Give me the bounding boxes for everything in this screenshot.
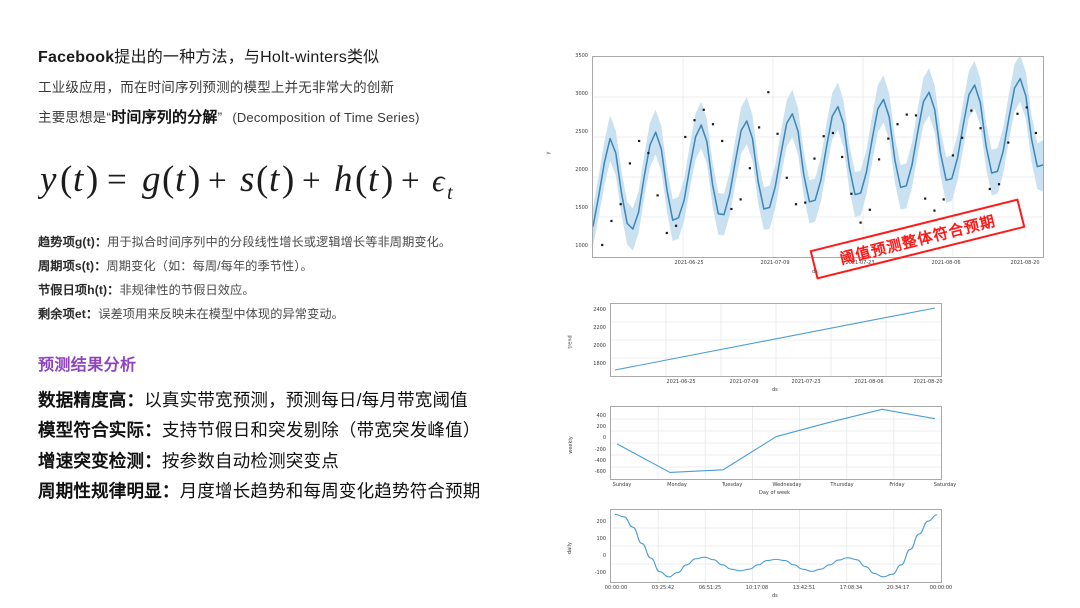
analysis-value: 以真实带宽预测，预测每日/每月带宽阈值 (144, 390, 468, 410)
svg-text:(: ( (355, 159, 367, 200)
forecast-xtick: 2021-06-25 (674, 260, 703, 266)
term-definition-list: 趋势项g(t)：用于拟合时间序列中的分段线性增长或逻辑增长等非周期变化。 周期项… (38, 231, 558, 326)
svg-text:t: t (175, 159, 187, 200)
analysis-row: 周期性规律明显：月度增长趋势和每周变化趋势符合预期 (38, 476, 558, 507)
svg-text:ϵ: ϵ (432, 163, 446, 198)
analysis-value: 支持节假日和突发剔除（带宽突发峰值） (162, 420, 481, 440)
daily-xtick: 13:42:51 (793, 585, 815, 591)
trend-ytick: 2000 (574, 343, 606, 349)
forecast-chart: 3500 3000 2500 2000 1500 1000 y 2021-06-… (548, 46, 1058, 291)
forecast-xtick: 2021-07-09 (760, 260, 789, 266)
term-desc: 误差项用来反映未在模型中体现的异常变动。 (98, 307, 344, 321)
analysis-conclusion-list: 数据精度高：以真实带宽预测，预测每日/每月带宽阈值 模型符合实际：支持节假日和突… (38, 385, 558, 508)
forecast-xtick: 2021-08-20 (1010, 260, 1039, 266)
term-row: 节假日项h(t)：非规律性的节假日效应。 (38, 279, 558, 303)
svg-text:t: t (269, 159, 281, 200)
trend-xtick: 2021-06-25 (666, 379, 695, 385)
trend-plot-svg (611, 304, 941, 376)
right-charts-column: 3500 3000 2500 2000 1500 1000 y 2021-06-… (548, 46, 1058, 606)
analysis-row: 增速突变检测：按参数自动检测突变点 (38, 446, 558, 477)
svg-text:=: = (107, 160, 127, 199)
forecast-ytick: 3500 (562, 53, 588, 59)
analysis-key: 模型符合实际： (38, 420, 162, 440)
forecast-ytick: 3000 (562, 91, 588, 97)
term-key: 剩余项et： (38, 307, 98, 321)
daily-xtick: 00:00:00 (930, 585, 952, 591)
forecast-ytick: 1000 (562, 243, 588, 249)
idea-english-gloss: (Decomposition of Time Series) (232, 110, 419, 125)
formula-svg: y ( t ) = g ( t ) + s ( t ) + h ( t ) + … (38, 150, 458, 208)
forecast-ytick: 1500 (562, 205, 588, 211)
trend-ylabel: trend (568, 335, 574, 348)
analysis-section-heading: 预测结果分析 (38, 351, 558, 375)
trend-ytick: 1800 (574, 361, 606, 367)
idea-close-quote: ” (218, 110, 223, 125)
weekly-ytick: -400 (574, 458, 606, 464)
daily-xtick: 17:08:34 (840, 585, 862, 591)
daily-chart: 200 100 0 -100 daily 00:00:00 03:25:42 0… (560, 503, 980, 603)
analysis-row: 模型符合实际：支持节假日和突发剔除（带宽突发峰值） (38, 415, 558, 446)
weekly-ytick: -200 (574, 447, 606, 453)
term-key: 节假日项h(t)： (38, 283, 119, 297)
weekly-xtick: Sunday (613, 482, 632, 488)
weekly-ytick: 0 (574, 435, 606, 441)
analysis-row: 数据精度高：以真实带宽预测，预测每日/每月带宽阈值 (38, 385, 558, 416)
svg-text:+: + (302, 163, 321, 199)
lead-bold-text: Facebook (38, 49, 114, 66)
analysis-key: 增速突变检测： (38, 451, 162, 471)
lead-rest-text: 提出的一种方法，与Holt-winters类似 (114, 49, 379, 66)
weekly-xlabel: Day of week (759, 490, 790, 496)
term-row: 周期项s(t)：周期变化（如：每周/每年的季节性）。 (38, 255, 558, 279)
trend-ytick: 2200 (574, 325, 606, 331)
daily-ylabel: daily (567, 542, 573, 554)
forecast-ytick: 2000 (562, 167, 588, 173)
daily-xtick: 03:25:42 (652, 585, 674, 591)
trend-chart: 2400 2200 2000 1800 trend 2021-06-25 202… (560, 297, 980, 397)
svg-text:+: + (208, 163, 227, 199)
weekly-ylabel: weekly (568, 436, 574, 454)
daily-xlabel: ds (772, 593, 778, 599)
svg-text:): ) (188, 159, 200, 200)
svg-text:h: h (334, 159, 353, 200)
left-content-column: Facebook提出的一种方法，与Holt-winters类似 工业级应用，而在… (38, 46, 558, 507)
daily-ytick: 200 (574, 519, 606, 525)
svg-text:+: + (401, 163, 420, 199)
weekly-xtick: Saturday (934, 482, 957, 488)
analysis-value: 月度增长趋势和每周变化趋势符合预期 (180, 481, 481, 501)
daily-ytick: 100 (574, 536, 606, 542)
svg-text:t: t (447, 182, 453, 204)
svg-text:g: g (142, 159, 161, 200)
components-charts: 2400 2200 2000 1800 trend 2021-06-25 202… (560, 297, 980, 603)
weekly-xtick: Monday (667, 482, 687, 488)
term-desc: 用于拟合时间序列中的分段线性增长或逻辑增长等非周期变化。 (107, 235, 451, 249)
daily-xtick: 06:51:25 (699, 585, 721, 591)
weekly-ytick: -600 (574, 469, 606, 475)
forecast-xtick: 2021-08-06 (931, 260, 960, 266)
trend-plot-area (610, 303, 942, 377)
daily-xtick: 20:34:17 (887, 585, 909, 591)
trend-xtick: 2021-07-09 (729, 379, 758, 385)
svg-text:(: ( (60, 159, 72, 200)
weekly-chart: 400 200 0 -200 -400 -600 weekly Sunday M… (560, 400, 980, 500)
analysis-value: 按参数自动检测突变点 (162, 451, 339, 471)
term-desc: 周期变化（如：每周/每年的季节性）。 (107, 259, 313, 273)
term-row: 剩余项et：误差项用来反映未在模型中体现的异常变动。 (38, 303, 558, 327)
weekly-xtick: Thursday (830, 482, 853, 488)
term-key: 趋势项g(t)： (38, 235, 107, 249)
forecast-ytick: 2500 (562, 129, 588, 135)
lead-statement: Facebook提出的一种方法，与Holt-winters类似 (38, 46, 558, 71)
daily-ytick: -100 (574, 570, 606, 576)
trend-xtick: 2021-08-06 (854, 379, 883, 385)
daily-plot-area (610, 509, 942, 583)
trend-xlabel: ds (772, 387, 778, 393)
weekly-ytick: 200 (574, 424, 606, 430)
term-row: 趋势项g(t)：用于拟合时间序列中的分段线性增长或逻辑增长等非周期变化。 (38, 231, 558, 255)
svg-text:(: ( (256, 159, 268, 200)
idea-quoted-term: 时间序列的分解 (111, 109, 217, 126)
svg-text:): ) (86, 159, 98, 200)
svg-text:t: t (73, 159, 85, 200)
weekly-plot-area (610, 406, 942, 480)
daily-plot-svg (611, 510, 941, 582)
daily-xtick: 10:17:08 (746, 585, 768, 591)
weekly-xtick: Friday (889, 482, 904, 488)
svg-text:): ) (282, 159, 294, 200)
svg-text:t: t (368, 159, 380, 200)
trend-xtick: 2021-07-23 (791, 379, 820, 385)
svg-text:s: s (240, 159, 254, 200)
decomposition-formula: y ( t ) = g ( t ) + s ( t ) + h ( t ) + … (38, 149, 558, 209)
analysis-key: 数据精度高： (38, 390, 144, 410)
weekly-xtick: Wednesday (773, 482, 802, 488)
main-idea-statement: 主要思想是“时间序列的分解”(Decomposition of Time Ser… (38, 106, 558, 127)
subtitle-statement: 工业级应用，而在时间序列预测的模型上并无非常大的创新 (38, 77, 558, 99)
forecast-ylabel: y (545, 152, 551, 155)
svg-text:y: y (38, 159, 57, 200)
trend-xtick: 2021-08-20 (913, 379, 942, 385)
svg-text:): ) (381, 159, 393, 200)
idea-prefix: 主要思想是 (38, 110, 107, 125)
weekly-ytick: 400 (574, 413, 606, 419)
analysis-key: 周期性规律明显： (38, 481, 180, 501)
trend-ytick: 2400 (574, 307, 606, 313)
svg-text:(: ( (162, 159, 174, 200)
weekly-xtick: Tuesday (722, 482, 742, 488)
term-desc: 非规律性的节假日效应。 (119, 283, 254, 297)
term-key: 周期项s(t)： (38, 259, 107, 273)
weekly-plot-svg (611, 407, 941, 479)
daily-ytick: 0 (574, 553, 606, 559)
daily-xtick: 00:00:00 (605, 585, 627, 591)
